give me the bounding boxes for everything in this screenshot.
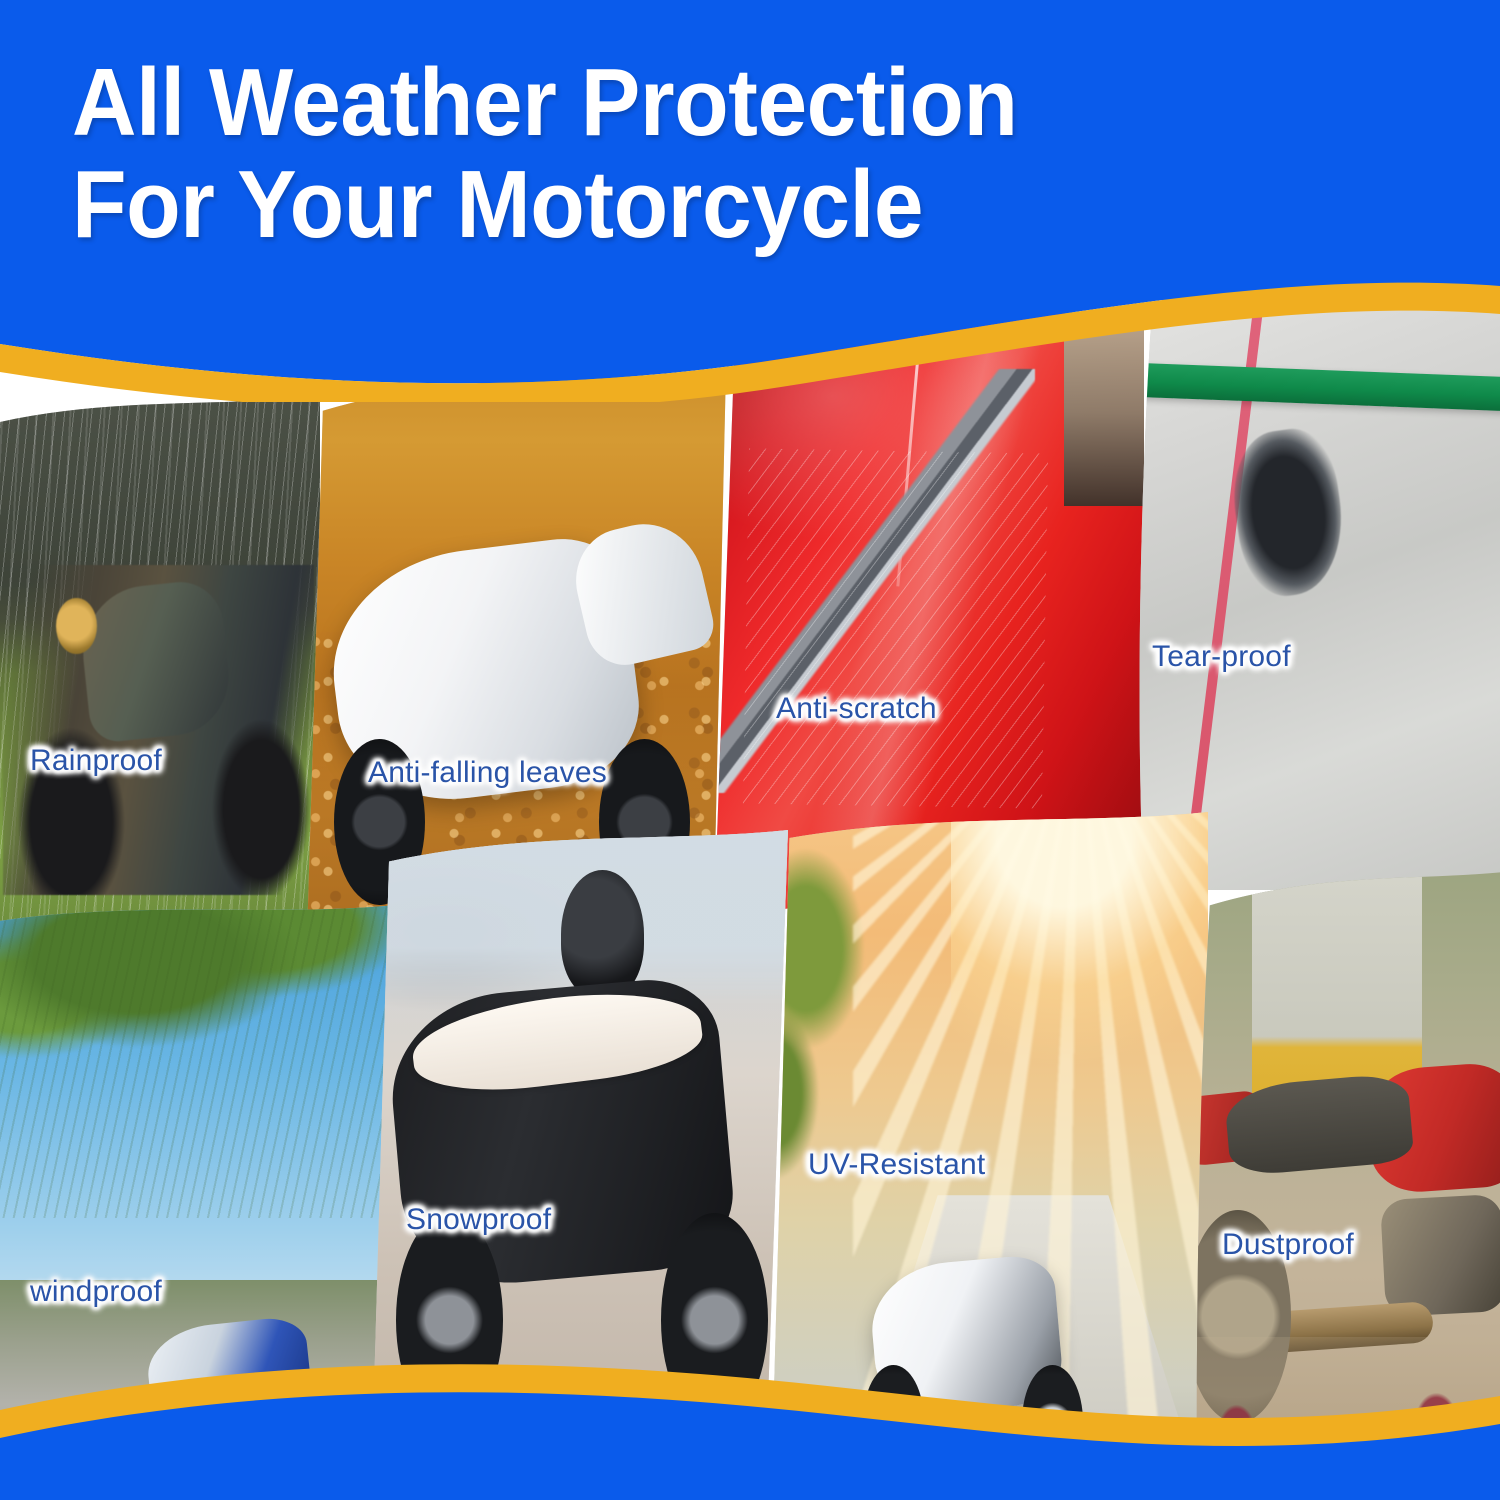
- feature-collage: Rainproof Anti-falling leaves: [0, 300, 1500, 1460]
- photo-windproof: [0, 900, 390, 1460]
- label-snowproof: Snowproof: [406, 1203, 551, 1237]
- photo-uv-resistant: [772, 812, 1208, 1462]
- poster-canvas: All Weather Protection For Your Motorcyc…: [0, 0, 1500, 1500]
- label-anti-scratch: Anti-scratch: [776, 692, 937, 726]
- label-tear-proof: Tear-proof: [1152, 640, 1291, 674]
- photo-tear-proof: [1128, 300, 1500, 890]
- fallen-leaves: [1190, 1337, 1500, 1460]
- panel-rainproof[interactable]: [0, 396, 320, 962]
- sun-glow: [951, 812, 1208, 1093]
- panel-uv-resistant[interactable]: [772, 812, 1208, 1462]
- label-rainproof: Rainproof: [30, 744, 162, 778]
- headline-line-2: For Your Motorcycle: [72, 154, 1244, 256]
- motorcycle-windproof: [136, 1293, 342, 1460]
- label-uv-resistant: UV-Resistant: [808, 1148, 985, 1182]
- headline-line-1: All Weather Protection: [72, 52, 1244, 154]
- page-title: All Weather Protection For Your Motorcyc…: [72, 52, 1244, 256]
- panel-dustproof[interactable]: [1190, 870, 1500, 1460]
- panel-windproof[interactable]: [0, 900, 390, 1460]
- label-anti-falling-leaves: Anti-falling leaves: [368, 756, 607, 790]
- motorcycle-uv: [853, 1232, 1097, 1462]
- photo-dustproof: [1190, 870, 1500, 1460]
- motorcycle-rain: [3, 565, 313, 895]
- panel-tear-proof[interactable]: [1128, 300, 1500, 890]
- motorcycle-snow-covered: [371, 891, 785, 1427]
- photo-snowproof: [368, 830, 788, 1460]
- hairline-scratches: [743, 448, 1048, 808]
- photo-rainproof: [0, 396, 320, 962]
- label-dustproof: Dustproof: [1222, 1228, 1354, 1262]
- wind-motion-streaks: [0, 900, 390, 1218]
- panel-snowproof[interactable]: [368, 830, 788, 1460]
- label-windproof: windproof: [30, 1275, 162, 1309]
